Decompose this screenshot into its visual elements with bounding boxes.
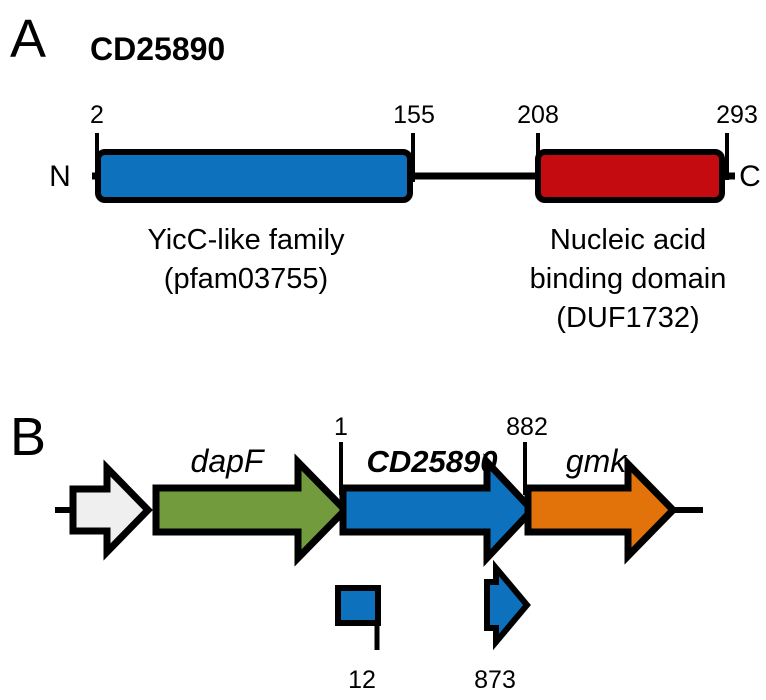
panel-a-title: CD25890 (90, 31, 225, 67)
domain-label-nab-name-line2: binding domain (530, 263, 727, 295)
gene-label-gmk: gmk (566, 443, 628, 479)
domain-label-nab-accession: (DUF1732) (556, 302, 699, 334)
fragment-label-12: 12 (348, 666, 376, 694)
fragment-box-12 (338, 588, 378, 623)
coord-label-2: 2 (90, 101, 104, 129)
scientific-figure: A CD25890 2 155 208 293 N C YicC-like fa… (0, 0, 766, 700)
panel-a-letter: A (10, 9, 46, 69)
fragment-label-873: 873 (474, 666, 516, 694)
c-terminus-label: C (739, 160, 761, 193)
coord-label-882: 882 (506, 413, 548, 441)
coord-label-208: 208 (517, 101, 559, 129)
domain-label-nab-name-line1: Nucleic acid (550, 224, 706, 256)
gene-label-dapf: dapF (191, 443, 266, 479)
domain-label-yicc-accession: (pfam03755) (164, 263, 328, 295)
panel-b-letter: B (10, 407, 46, 467)
gene-label-cd25890: CD25890 (367, 444, 498, 479)
coord-label-155: 155 (393, 101, 435, 129)
domain-box-nucleic-acid-binding (538, 152, 722, 200)
figure-background (0, 0, 766, 700)
n-terminus-label: N (49, 160, 71, 193)
figure-container: A CD25890 2 155 208 293 N C YicC-like fa… (0, 0, 766, 700)
domain-box-yicc-like (98, 152, 410, 200)
coord-label-293: 293 (716, 101, 758, 129)
domain-label-yicc-name: YicC-like family (147, 224, 345, 256)
coord-label-1: 1 (334, 413, 348, 441)
